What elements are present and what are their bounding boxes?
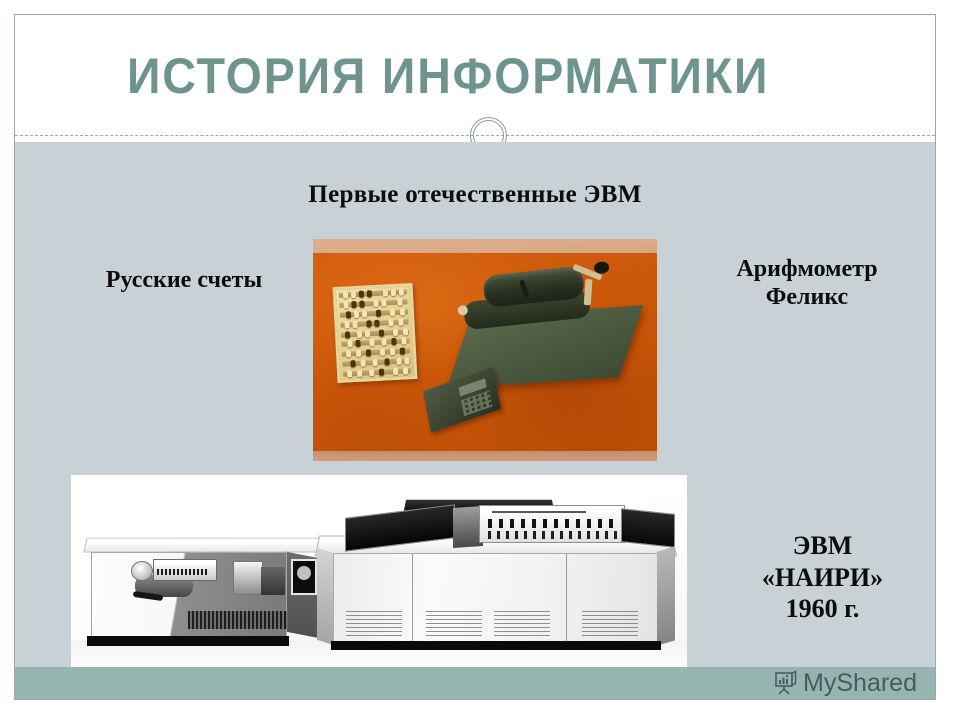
nairi-peripheral-desk xyxy=(85,537,321,647)
page-title: ИСТОРИЯ ИНФОРМАТИКИ xyxy=(127,51,815,101)
abacus-row xyxy=(339,299,407,308)
abacus-row xyxy=(342,358,410,367)
cabinet-door-seam xyxy=(566,554,567,642)
nairi-main-console xyxy=(317,499,675,649)
abacus-bead-rows xyxy=(339,289,411,376)
slide: ИСТОРИЯ ИНФОРМАТИКИ Первые отечественные… xyxy=(14,14,936,700)
label-nairi-computer: ЭВМ «НАИРИ» 1960 г. xyxy=(715,530,930,625)
watermark-label: MyShared xyxy=(803,671,917,696)
teleprinter-keys xyxy=(157,569,209,575)
cabinet-ventilation-grille xyxy=(346,608,402,636)
desk-reader-unit xyxy=(291,559,317,595)
label-nairi-line2: «НАИРИ» xyxy=(715,562,930,594)
label-arithmometer-line1: Арифмометр xyxy=(687,255,927,283)
teleprinter-device xyxy=(131,557,223,603)
abacus-row xyxy=(341,339,409,348)
console-dark-panel-right xyxy=(621,508,675,548)
label-nairi-line3: 1960 г. xyxy=(715,593,930,625)
nairi-computer-photo xyxy=(71,475,687,670)
console-control-panel xyxy=(479,505,625,543)
label-russian-abacus: Русские счеты xyxy=(59,266,309,294)
console-cabinet-doors xyxy=(333,553,659,643)
slide-footer: MyShared xyxy=(15,667,935,699)
desk-equipment-box xyxy=(233,561,263,595)
cabinet-ventilation-grille xyxy=(582,608,638,636)
myshared-watermark: MyShared xyxy=(774,670,917,696)
console-panel-title-strip xyxy=(492,511,586,513)
abacus-row xyxy=(340,309,408,318)
abacus-row xyxy=(339,289,407,298)
arithmometer-crank-shaft xyxy=(584,279,593,305)
console-right-support xyxy=(657,546,675,645)
photo-top-edge xyxy=(313,239,657,253)
label-arithmometer-felix: Арифмометр Феликс xyxy=(687,255,927,312)
label-nairi-line1: ЭВМ xyxy=(715,530,930,562)
abacus-row xyxy=(340,319,408,328)
desk-top-surface xyxy=(83,538,323,553)
photo-bottom-edge xyxy=(313,451,657,461)
abacus-row xyxy=(341,329,409,338)
console-switch-row-upper xyxy=(488,519,620,528)
abacus-row xyxy=(342,348,410,357)
slide-header: ИСТОРИЯ ИНФОРМАТИКИ xyxy=(15,15,935,135)
console-switch-row-lower xyxy=(488,531,620,539)
abacus-and-arithmometer-photo xyxy=(313,239,657,461)
slide-body: Первые отечественные ЭВМ Русские счеты А… xyxy=(15,142,935,669)
cabinet-door-seam xyxy=(412,554,413,642)
presentation-board-icon xyxy=(774,670,798,696)
desk-ventilation-grille xyxy=(188,611,288,629)
subtitle: Первые отечественные ЭВМ xyxy=(15,180,935,210)
desk-equipment-box-dark xyxy=(261,567,285,595)
cabinet-ventilation-grille xyxy=(426,608,482,636)
cabinet-ventilation-grille xyxy=(494,608,550,636)
console-plinth xyxy=(331,641,661,650)
teleprinter-paper-spool xyxy=(131,561,153,581)
desk-plinth xyxy=(87,636,289,646)
russian-abacus-object xyxy=(333,283,418,383)
label-arithmometer-line2: Феликс xyxy=(687,283,927,311)
abacus-row xyxy=(343,368,411,377)
